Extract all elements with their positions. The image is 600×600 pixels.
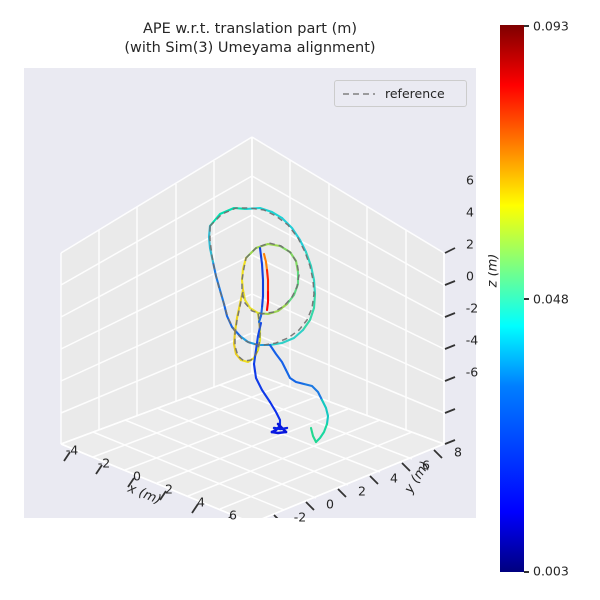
y-tick-label: 4 [390, 471, 398, 486]
figure-canvas: APE w.r.t. translation part (m) (with Si… [0, 0, 600, 600]
colorbar-gradient [500, 25, 524, 572]
z-axis-label-clip: z (m) [488, 225, 500, 325]
legend-label-reference: reference [385, 86, 445, 101]
z-tick-label: 4 [466, 205, 474, 220]
y-tick-label: 2 [358, 484, 366, 499]
colorbar-tick-mark [524, 298, 529, 300]
z-tick-label: -4 [466, 333, 478, 348]
y-tick-label: 8 [454, 445, 462, 460]
x-tick-label: 0 [133, 469, 141, 484]
y-tick-label: 0 [326, 497, 334, 512]
legend[interactable]: reference [334, 80, 467, 107]
z-tick-label: -2 [466, 301, 478, 316]
z-tick-label: 0 [466, 269, 474, 284]
colorbar-tick-label-mid: 0.048 [533, 292, 569, 307]
z-tick-label: -6 [466, 365, 478, 380]
chart-title: APE w.r.t. translation part (m) (with Si… [24, 20, 476, 58]
colorbar-tick-mark [524, 571, 529, 573]
axes-3d-plot [24, 68, 476, 518]
z-axis-label: z (m) [488, 254, 500, 288]
x-tick-label: -4 [66, 443, 78, 458]
colorbar-tick-mark [524, 25, 529, 27]
x-tick-label: 2 [165, 482, 173, 497]
colorbar-tick-label-max: 0.093 [533, 19, 569, 34]
colorbar-tick-label-min: 0.003 [533, 564, 569, 579]
z-tick-label: 6 [466, 173, 474, 188]
y-tick-label: -2 [294, 510, 306, 525]
colorbar[interactable]: 0.093 0.048 0.003 [500, 25, 524, 572]
z-tick-label: 2 [466, 237, 474, 252]
x-tick-label: 4 [197, 495, 205, 510]
x-tick-label: 6 [229, 508, 237, 523]
x-tick-label: -2 [98, 456, 110, 471]
legend-dashed-line-icon [342, 88, 376, 100]
z-axis-ticks [445, 248, 455, 444]
